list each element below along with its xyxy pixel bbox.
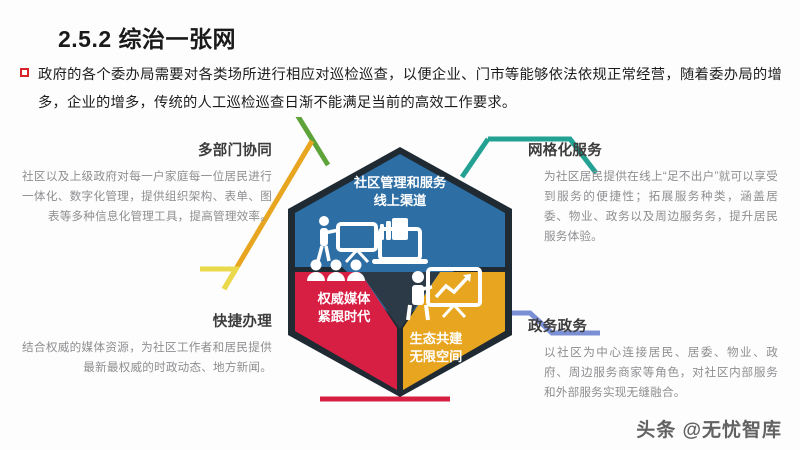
panel-bottom-left-body: 结合权威的媒体资源，为社区工作者和居民提供最新最权威的时政动态、地方新闻。 xyxy=(22,338,272,378)
hexagon-label-top-line2: 线上渠道 xyxy=(374,192,428,208)
panel-top-left-heading: 多部门协同 xyxy=(22,139,272,160)
hexagon-label-right-line1: 生态共建 xyxy=(410,330,464,346)
panel-bottom-right-heading: 政务政务 xyxy=(528,315,778,336)
diagram-stage: 社区管理和服务 线上渠道 权威媒体 紧跟时代 生态共建 无限空间 多部门协同 社… xyxy=(0,125,800,425)
panel-bottom-right: 政务政务 以社区为中心连接居民、居委、物业、政府、周边服务商家等角色，对社区内部… xyxy=(528,315,778,403)
hexagon-label-top-line1: 社区管理和服务 xyxy=(353,174,447,190)
panel-top-left-body: 社区以及上级政府对每一户家庭每一位居民进行一体化、数字化管理，提供组织架构、表单… xyxy=(22,167,272,227)
square-bullet-icon xyxy=(20,68,29,77)
bullet-paragraph-text: 政府的各个委办局需要对各类场所进行相应对巡检巡查，以便企业、门市等能够依法依规正… xyxy=(38,62,782,118)
bullet-paragraph: 政府的各个委办局需要对各类场所进行相应对巡检巡查，以便企业、门市等能够依法依规正… xyxy=(20,62,782,118)
slide-canvas: 2.5.2 综治一张网 政府的各个委办局需要对各类场所进行相应对巡检巡查，以便企… xyxy=(0,0,800,450)
page-title: 2.5.2 综治一张网 xyxy=(58,20,236,54)
panel-top-right-heading: 网格化服务 xyxy=(528,139,778,160)
hexagon-label-right-line2: 无限空间 xyxy=(409,348,463,364)
hexagon-label-left-line2: 紧跟时代 xyxy=(318,308,372,324)
panel-bottom-left: 快捷办理 结合权威的媒体资源，为社区工作者和居民提供最新最权威的时政动态、地方新… xyxy=(22,310,272,378)
bottom-left-connector xyxy=(210,269,236,289)
panel-bottom-right-body: 以社区为中心连接居民、居委、物业、政府、周边服务商家等角色，对社区内部服务和外部… xyxy=(528,343,778,403)
panel-top-left: 多部门协同 社区以及上级政府对每一户家庭每一位居民进行一体化、数字化管理，提供组… xyxy=(22,139,272,227)
hexagon-label-left-line1: 权威媒体 xyxy=(317,290,372,306)
panel-bottom-left-heading: 快捷办理 xyxy=(22,310,272,331)
watermark: 头条 @无忧智库 xyxy=(636,415,782,442)
panel-top-right-body: 为社区居民提供在线上“足不出户”就可以享受到服务的便捷性；拓展服务种类，涵盖居委… xyxy=(528,167,778,247)
panel-top-right: 网格化服务 为社区居民提供在线上“足不出户”就可以享受到服务的便捷性；拓展服务种… xyxy=(528,139,778,247)
top-right-connector-2 xyxy=(462,139,488,177)
